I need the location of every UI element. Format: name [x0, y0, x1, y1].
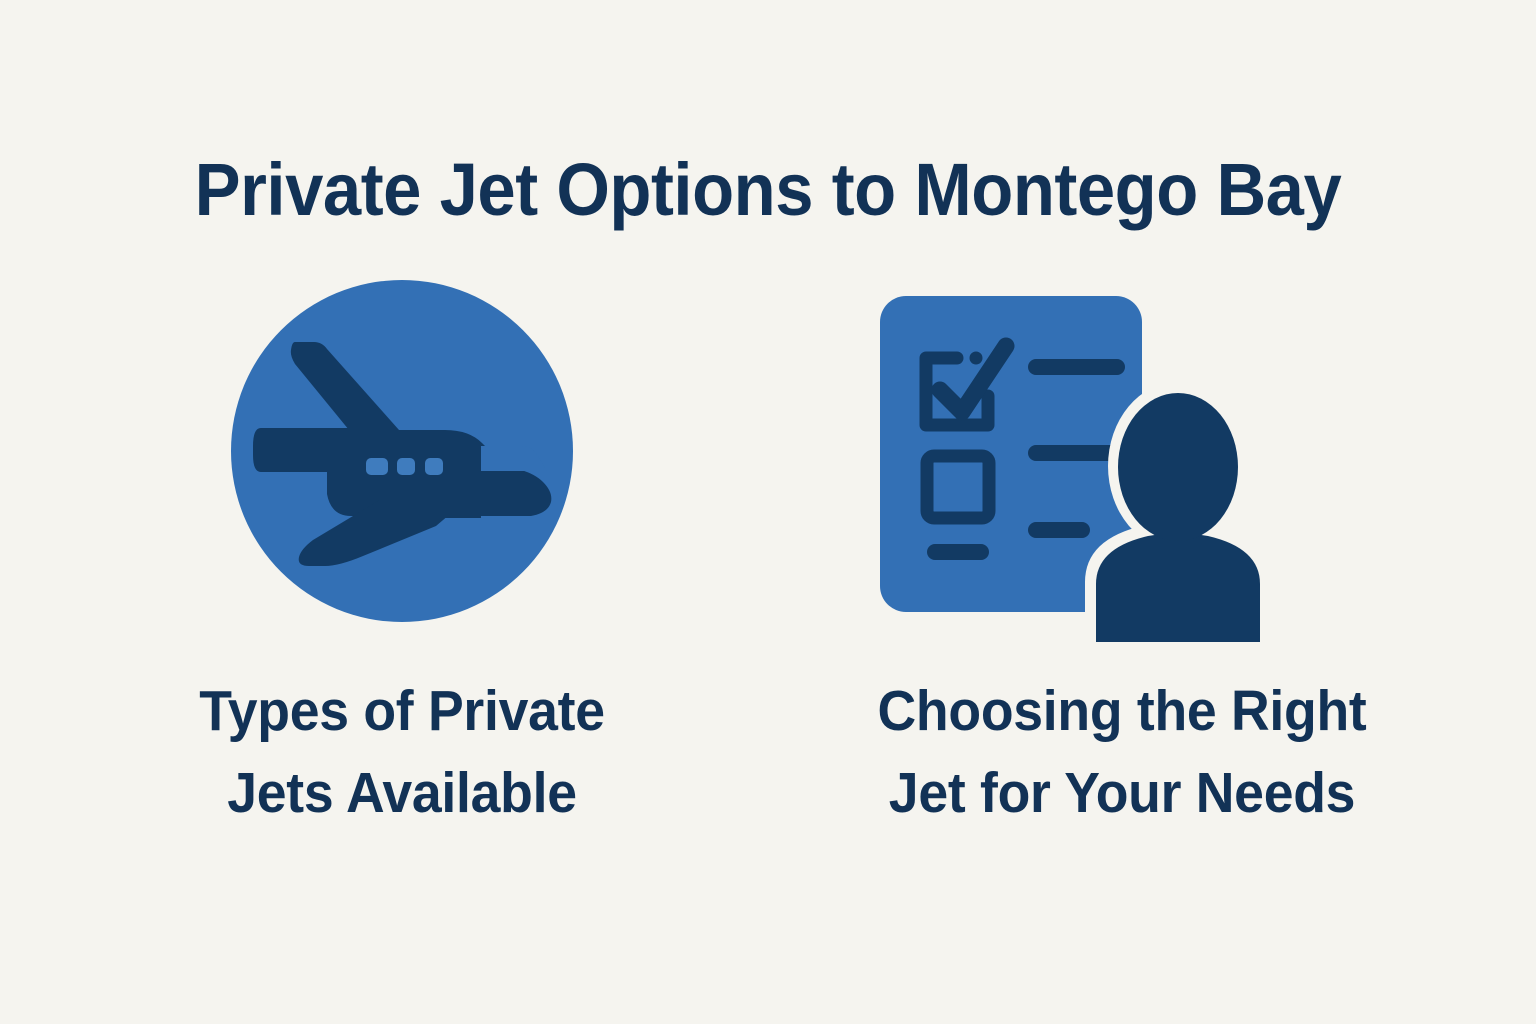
infographic-canvas: Private Jet Options to Montego Bay: [0, 0, 1536, 1024]
window-3: [425, 458, 443, 475]
person-shoulders: [1096, 534, 1260, 643]
caption-line-2: Jets Available: [111, 752, 694, 834]
card-types-of-private-jets: Types of Private Jets Available: [92, 270, 712, 840]
card-choosing-the-right-jet: Choosing the Right Jet for Your Needs: [812, 270, 1432, 840]
caption-line-1: Choosing the Right: [831, 670, 1414, 752]
checklist-with-person-icon: [878, 286, 1290, 642]
checklist-line-1: [1028, 359, 1125, 375]
page-title: Private Jet Options to Montego Bay: [54, 148, 1482, 232]
checklist-icon-stage: [812, 270, 1432, 640]
checklist-dash-4: [927, 544, 989, 560]
airplane-in-circle-icon: [231, 280, 573, 622]
card-caption: Types of Private Jets Available: [111, 670, 694, 834]
person-head: [1118, 393, 1238, 541]
caption-line-1: Types of Private: [111, 670, 694, 752]
window-2: [397, 458, 415, 475]
checklist-line-3: [1028, 522, 1090, 538]
card-caption: Choosing the Right Jet for Your Needs: [831, 670, 1414, 834]
airplane-icon-stage: [92, 270, 712, 640]
window-1: [366, 458, 388, 475]
caption-line-2: Jet for Your Needs: [831, 752, 1414, 834]
